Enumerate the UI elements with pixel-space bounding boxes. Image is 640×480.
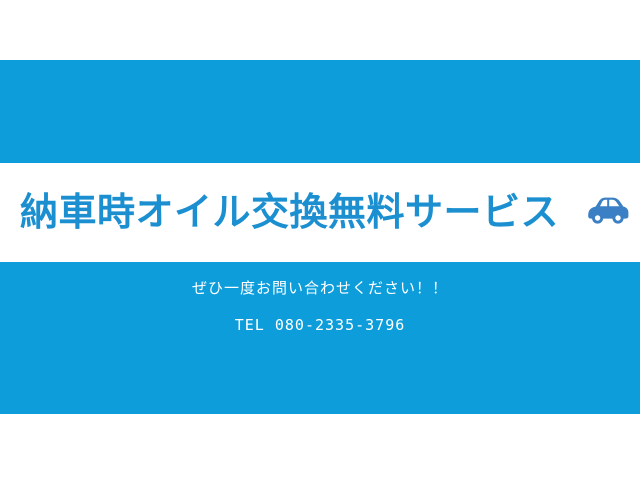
headline-row: 納車時オイル交換無料サービス [0, 163, 640, 262]
car-icon [585, 193, 631, 232]
bottom-white-spacer [0, 414, 640, 480]
top-white-spacer [0, 0, 640, 60]
page-title: 納車時オイル交換無料サービス [20, 194, 559, 232]
contact-blue-band: ぜひ一度お問い合わせください！！ TEL 080-2335-3796 [0, 262, 640, 414]
promo-banner: 納車時オイル交換無料サービス ぜひ一度お問い合わせください！！ TEL 080-… [0, 0, 640, 480]
telephone-number[interactable]: TEL 080-2335-3796 [0, 301, 640, 337]
cta-text: ぜひ一度お問い合わせください！！ [0, 278, 640, 301]
top-blue-band [0, 60, 640, 163]
